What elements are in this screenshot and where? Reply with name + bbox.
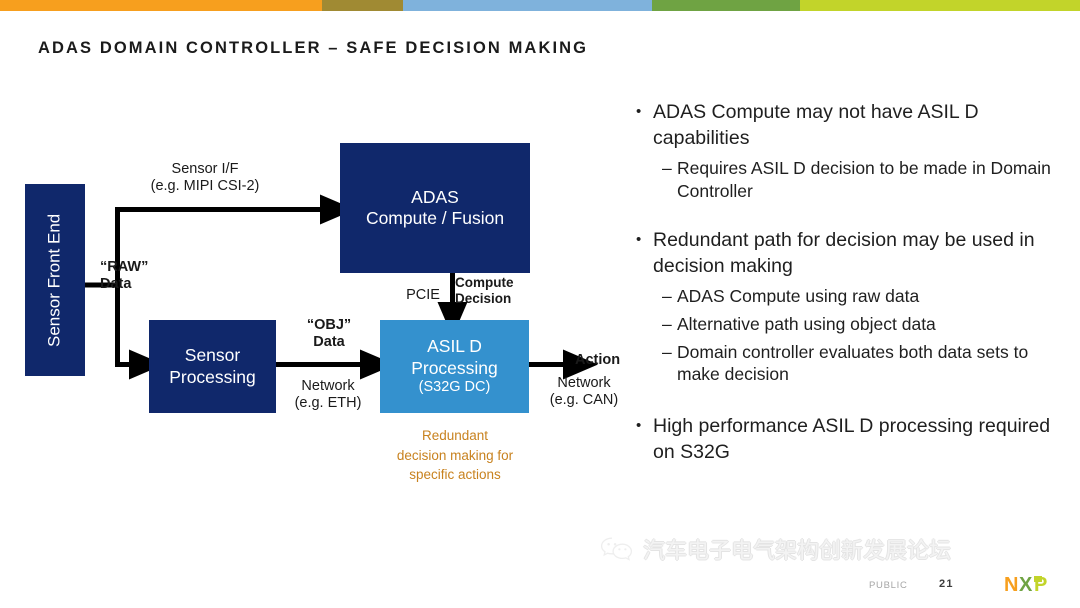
edge-label-line1: Network <box>276 378 380 395</box>
edge-label-line1: Compute <box>455 275 543 291</box>
bullet-text: Alternative path using object data <box>677 313 1066 336</box>
edge-label-line2: Data <box>100 276 212 293</box>
annotation-line2: decision making for <box>375 446 535 466</box>
edge-label-line1: Sensor I/F <box>110 161 300 178</box>
svg-text:N: N <box>1004 574 1018 596</box>
edge-label-network-eth: Network (e.g. ETH) <box>276 378 380 412</box>
edge-label-line1: “OBJ” <box>281 317 377 334</box>
bullet-dash-icon: – <box>662 285 677 308</box>
nxp-logo: N X P <box>1004 573 1060 597</box>
node-label-line2: Processing <box>411 358 498 379</box>
bullet-group: • ADAS Compute may not have ASIL D capab… <box>636 100 1066 202</box>
edge-label-line2: (e.g. MIPI CSI-2) <box>110 178 300 195</box>
edge-label-action: Action <box>575 352 645 369</box>
watermark: 汽车电子电气架构创新发展论坛 <box>600 533 951 565</box>
diagram-node-sensor-processing: Sensor Processing <box>149 320 276 413</box>
annotation-redundant-decision: Redundant decision making for specific a… <box>375 426 535 485</box>
footer-page-number: 21 <box>939 578 954 590</box>
bullet-marker-icon: • <box>636 414 653 466</box>
bullet-dash-icon: – <box>662 341 677 387</box>
color-bar-segment-lime <box>800 0 1080 11</box>
edge-label-pcie: PCIE <box>398 287 448 304</box>
bullet-list: • ADAS Compute may not have ASIL D capab… <box>636 100 1066 488</box>
bullet-text: Requires ASIL D decision to be made in D… <box>677 157 1066 203</box>
bullet-level1: • Redundant path for decision may be use… <box>636 228 1066 280</box>
watermark-text: 汽车电子电气架构创新发展论坛 <box>643 533 951 565</box>
bullet-group: • Redundant path for decision may be use… <box>636 228 1066 386</box>
diagram-node-adas-compute-fusion: ADAS Compute / Fusion <box>340 143 530 273</box>
bullet-marker-icon: • <box>636 100 653 152</box>
node-label-sub: (S32G DC) <box>411 379 498 397</box>
edge-label-line2: Decision <box>455 291 543 307</box>
page-title: ADAS DOMAIN CONTROLLER – SAFE DECISION M… <box>38 39 588 58</box>
bullet-level1: • High performance ASIL D processing req… <box>636 414 1066 466</box>
color-bar-segment-green <box>652 0 800 11</box>
edge-label-line2: (e.g. CAN) <box>536 392 632 409</box>
node-label-line1: Sensor <box>169 345 256 366</box>
edge-label-sensor-interface: Sensor I/F (e.g. MIPI CSI-2) <box>110 161 300 195</box>
edge-label-obj-data: “OBJ” Data <box>281 317 377 351</box>
edge-label-compute-decision: Compute Decision <box>455 275 543 307</box>
bullet-dash-icon: – <box>662 157 677 203</box>
decorative-color-bar <box>0 0 1080 11</box>
annotation-line3: specific actions <box>375 465 535 485</box>
bullet-dash-icon: – <box>662 313 677 336</box>
bullet-level2: – Alternative path using object data <box>662 313 1066 336</box>
edge-label-line1: “RAW” <box>100 259 212 276</box>
edge-label-network-can: Network (e.g. CAN) <box>536 375 632 409</box>
bullet-level2: – ADAS Compute using raw data <box>662 285 1066 308</box>
node-label-line2: Processing <box>169 367 256 388</box>
diagram-node-asil-d-processing: ASIL D Processing (S32G DC) <box>380 320 529 413</box>
node-label: Sensor Front End <box>45 213 66 346</box>
bullet-group: • High performance ASIL D processing req… <box>636 414 1066 466</box>
wechat-icon <box>600 536 634 562</box>
node-label-line1: ADAS <box>366 187 504 208</box>
svg-text:X: X <box>1019 574 1033 596</box>
bullet-text: Redundant path for decision may be used … <box>653 228 1066 280</box>
edge-label-line2: (e.g. ETH) <box>276 395 380 412</box>
node-label-line2: Compute / Fusion <box>366 208 504 229</box>
annotation-line1: Redundant <box>375 426 535 446</box>
bullet-level1: • ADAS Compute may not have ASIL D capab… <box>636 100 1066 152</box>
color-bar-segment-blue <box>403 0 652 11</box>
architecture-diagram: Sensor Front End ADAS Compute / Fusion S… <box>0 95 640 515</box>
diagram-node-sensor-front-end: Sensor Front End <box>25 184 85 376</box>
bullet-marker-icon: • <box>636 228 653 280</box>
bullet-text: ADAS Compute may not have ASIL D capabil… <box>653 100 1066 152</box>
bullet-level2: – Domain controller evaluates both data … <box>662 341 1066 387</box>
node-label-line1: ASIL D <box>411 336 498 357</box>
bullet-text: High performance ASIL D processing requi… <box>653 414 1066 466</box>
diagram-connectors <box>0 95 640 515</box>
footer-classification: PUBLIC <box>869 580 908 591</box>
edge-label-raw-data: “RAW” Data <box>100 259 212 293</box>
bullet-level2: – Requires ASIL D decision to be made in… <box>662 157 1066 203</box>
color-bar-segment-olive <box>322 0 403 11</box>
edge-label-line2: Data <box>281 334 377 351</box>
bullet-text: Domain controller evaluates both data se… <box>677 341 1066 387</box>
bullet-text: ADAS Compute using raw data <box>677 285 1066 308</box>
color-bar-segment-orange <box>0 0 322 11</box>
edge-label-line1: Network <box>536 375 632 392</box>
